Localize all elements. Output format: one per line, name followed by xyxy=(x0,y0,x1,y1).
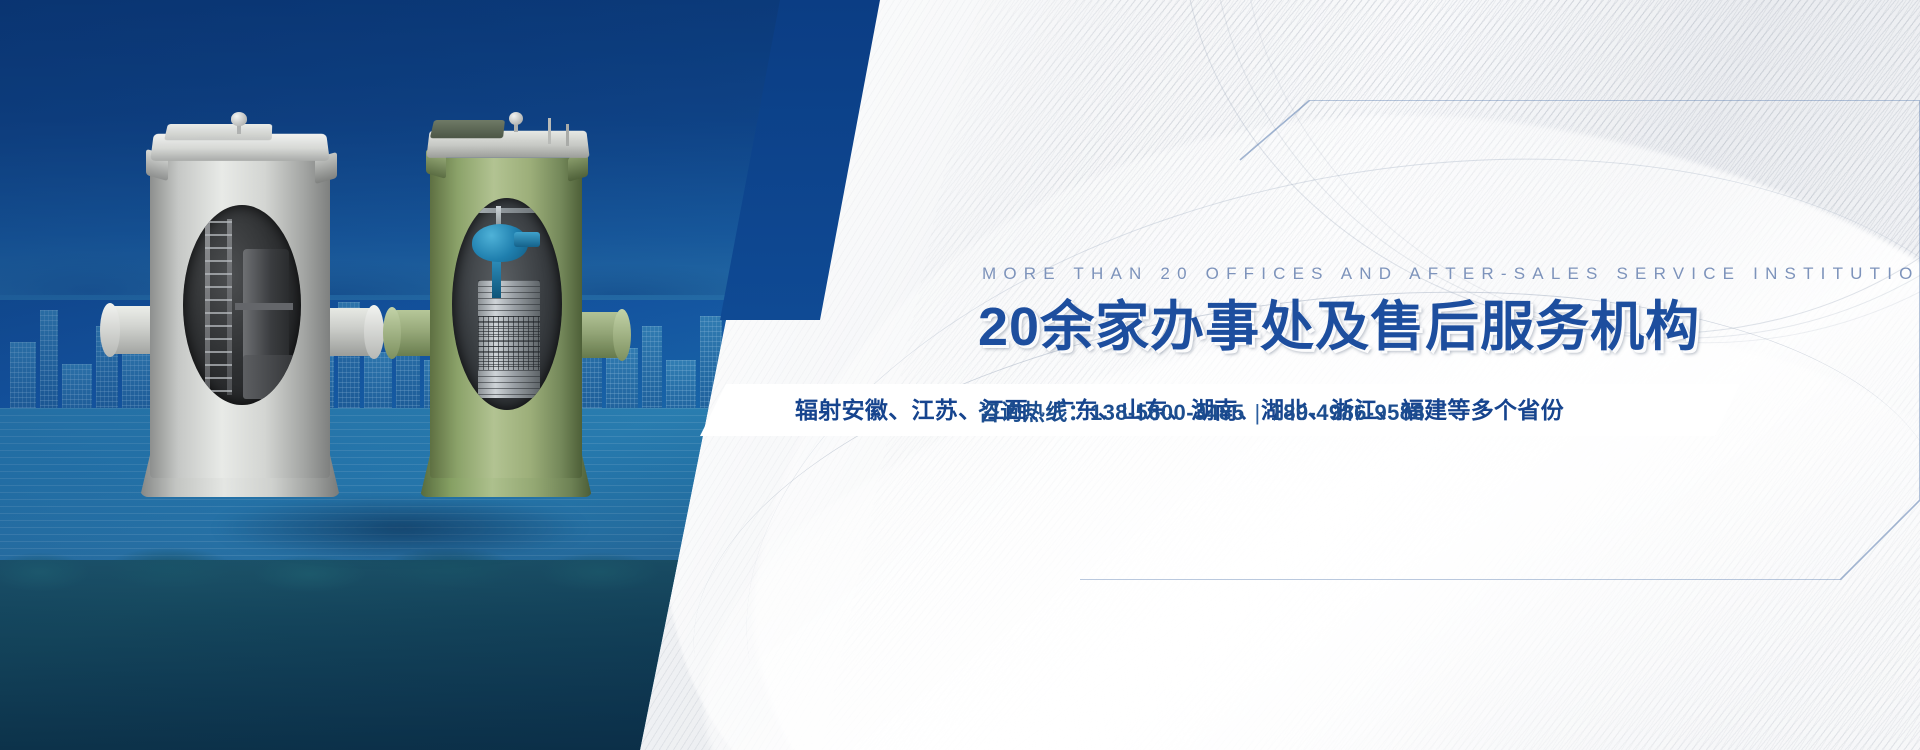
hotline-line: 咨询热线：138-5600-3485|189-4986-9588 xyxy=(978,395,1425,427)
hotline-number-1[interactable]: 138-5600-3485 xyxy=(1090,400,1244,425)
eyebrow-english-text: MORE THAN 20 OFFICES AND AFTER-SALES SER… xyxy=(982,264,1920,284)
hotline-separator: | xyxy=(1244,400,1270,425)
promo-banner: MORE THAN 20 OFFICES AND AFTER-SALES SER… xyxy=(0,0,1920,750)
page-title: 20余家办事处及售后服务机构 xyxy=(978,282,1700,361)
hotline-number-2[interactable]: 189-4986-9588 xyxy=(1271,400,1425,425)
green-cutaway-window xyxy=(452,198,562,410)
grey-cutaway-window xyxy=(183,205,301,405)
hotline-label: 咨询热线： xyxy=(978,400,1090,425)
